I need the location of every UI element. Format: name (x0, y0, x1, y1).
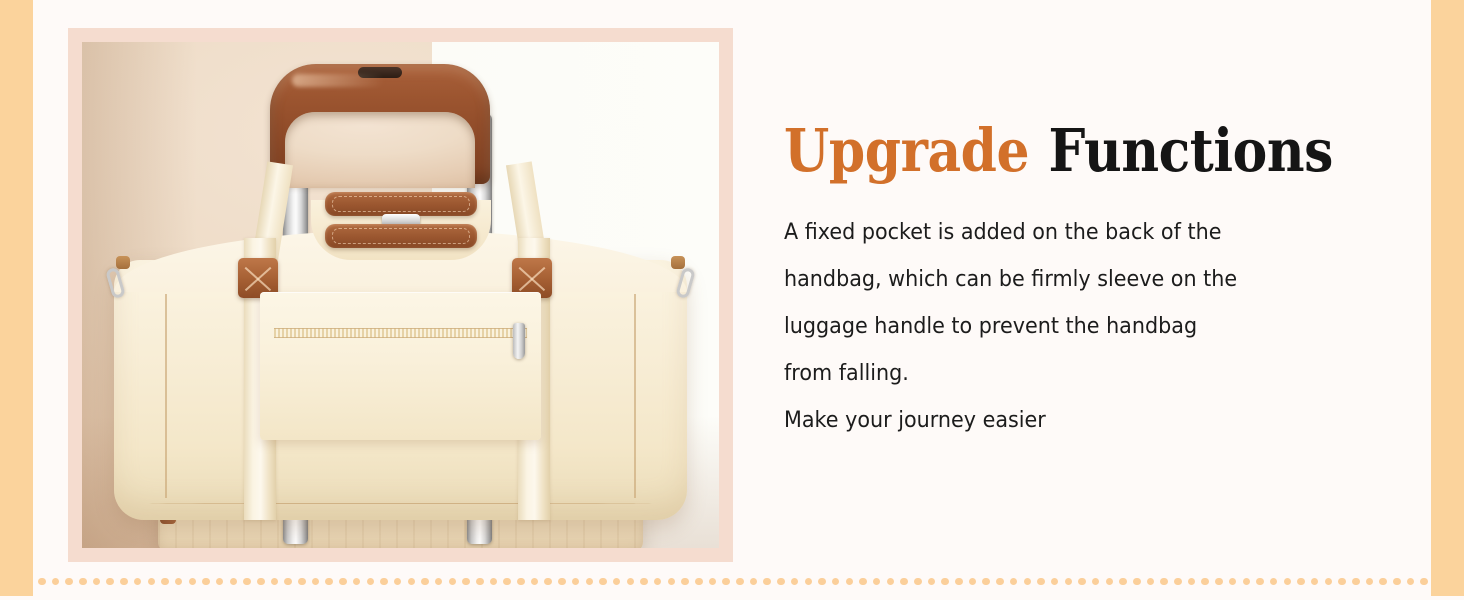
divider-dot (1325, 578, 1333, 586)
divider-dot (846, 578, 854, 586)
divider-dot (982, 578, 990, 586)
divider-dot (1338, 578, 1346, 586)
headline-plain-word: Functions (1049, 116, 1333, 185)
divider-dot (1243, 578, 1251, 586)
divider-dot (380, 578, 388, 586)
divider-dot (914, 578, 922, 586)
divider-dot (818, 578, 826, 586)
divider-dot (189, 578, 197, 586)
divider-dot (736, 578, 744, 586)
divider-dot (1188, 578, 1196, 586)
divider-dot (613, 578, 621, 586)
divider-dot (805, 578, 813, 586)
divider-dot (339, 578, 347, 586)
trolley-sleeve-pocket (260, 292, 540, 440)
divider-dot (490, 578, 498, 586)
body-copy: A fixed pocket is added on the back of t… (784, 209, 1345, 444)
divider-dot (462, 578, 470, 586)
divider-dot (1215, 578, 1223, 586)
divider-dot (1065, 578, 1073, 586)
divider-dot (1160, 578, 1168, 586)
divider-dot (1366, 578, 1374, 586)
divider-dot (558, 578, 566, 586)
divider-dot (531, 578, 539, 586)
divider-dot (695, 578, 703, 586)
divider-dot (599, 578, 607, 586)
divider-dot (763, 578, 771, 586)
divider-dot (271, 578, 279, 586)
pocket-zipper-track (274, 328, 526, 338)
divider-dot (627, 578, 635, 586)
divider-dot (230, 578, 238, 586)
divider-dot (640, 578, 648, 586)
d-ring-tab-right (671, 256, 685, 269)
divider-dot (120, 578, 128, 586)
divider-dot (859, 578, 867, 586)
divider-dot (544, 578, 552, 586)
body-line-4: from falling. (784, 350, 1345, 397)
divider-dot (257, 578, 265, 586)
divider-dot (654, 578, 662, 586)
trolley-grip-opening (285, 112, 475, 188)
divider-dot (1174, 578, 1182, 586)
body-line-2: handbag, which can be firmly sleeve on t… (784, 256, 1345, 303)
bag-seam-left (165, 294, 167, 498)
headline: UpgradeFunctions (784, 120, 1321, 183)
divider-dot (1119, 578, 1127, 586)
body-line-5: Make your journey easier (784, 397, 1345, 444)
divider-dot (1352, 578, 1360, 586)
divider-dot (52, 578, 60, 586)
divider-dot (1201, 578, 1209, 586)
divider-dot (1010, 578, 1018, 586)
headline-accent-word: Upgrade (784, 116, 1029, 185)
divider-dot (1256, 578, 1264, 586)
divider-dot (572, 578, 580, 586)
pocket-zipper-pull (513, 323, 525, 359)
divider-dot (681, 578, 689, 586)
divider-dot (517, 578, 525, 586)
divider-dot (832, 578, 840, 586)
divider-dot (722, 578, 730, 586)
bag-leather-handle-front (325, 224, 477, 248)
divider-dot (1270, 578, 1278, 586)
product-photo-frame (68, 28, 733, 562)
divider-dot (1024, 578, 1032, 586)
divider-dot (668, 578, 676, 586)
divider-dot (202, 578, 210, 586)
divider-dot (93, 578, 101, 586)
divider-dot (1420, 578, 1428, 586)
divider-dot (312, 578, 320, 586)
divider-dot (421, 578, 429, 586)
trolley-grip (270, 64, 490, 184)
dotted-divider (38, 576, 1430, 587)
divider-dot (148, 578, 156, 586)
divider-dot (175, 578, 183, 586)
divider-dot (873, 578, 881, 586)
divider-dot (503, 578, 511, 586)
divider-dot (900, 578, 908, 586)
promo-banner: UpgradeFunctions A fixed pocket is added… (0, 0, 1464, 600)
divider-dot (1311, 578, 1319, 586)
divider-dot (1106, 578, 1114, 586)
divider-dot (161, 578, 169, 586)
divider-dot (1379, 578, 1387, 586)
divider-dot (928, 578, 936, 586)
divider-dot (941, 578, 949, 586)
divider-dot (476, 578, 484, 586)
divider-dot (955, 578, 963, 586)
trolley-grip-highlight (292, 74, 384, 87)
divider-dot (1078, 578, 1086, 586)
divider-dot (134, 578, 142, 586)
divider-dot (586, 578, 594, 586)
divider-dot (79, 578, 87, 586)
divider-dot (353, 578, 361, 586)
divider-dot (106, 578, 114, 586)
divider-dot (750, 578, 758, 586)
divider-dot (284, 578, 292, 586)
divider-dot (325, 578, 333, 586)
divider-dot (216, 578, 224, 586)
divider-dot (887, 578, 895, 586)
divider-dot (996, 578, 1004, 586)
divider-dot (435, 578, 443, 586)
left-edge-bar (0, 0, 33, 596)
divider-dot (38, 578, 46, 586)
right-edge-bar (1431, 0, 1464, 596)
body-line-1: A fixed pocket is added on the back of t… (784, 209, 1345, 256)
divider-dot (1229, 578, 1237, 586)
divider-dot (1147, 578, 1155, 586)
divider-dot (1037, 578, 1045, 586)
divider-dot (1051, 578, 1059, 586)
d-ring-tab-left (116, 256, 130, 269)
divider-dot (1393, 578, 1401, 586)
body-line-3: luggage handle to prevent the handbag (784, 303, 1345, 350)
bag-leather-handle-back (325, 192, 477, 216)
divider-dot (449, 578, 457, 586)
divider-dot (1407, 578, 1415, 586)
divider-dot (298, 578, 306, 586)
divider-dot (408, 578, 416, 586)
bag-seam-right (634, 294, 636, 498)
divider-dot (969, 578, 977, 586)
divider-dot (367, 578, 375, 586)
bag-bottom-seam (148, 503, 653, 504)
divider-dot (243, 578, 251, 586)
divider-dot (709, 578, 717, 586)
divider-dot (791, 578, 799, 586)
divider-dot (777, 578, 785, 586)
product-photo (82, 42, 719, 548)
divider-dot (65, 578, 73, 586)
divider-dot (1297, 578, 1305, 586)
divider-dot (1284, 578, 1292, 586)
copy-column: UpgradeFunctions A fixed pocket is added… (784, 120, 1394, 444)
divider-dot (1092, 578, 1100, 586)
divider-dot (394, 578, 402, 586)
divider-dot (1133, 578, 1141, 586)
